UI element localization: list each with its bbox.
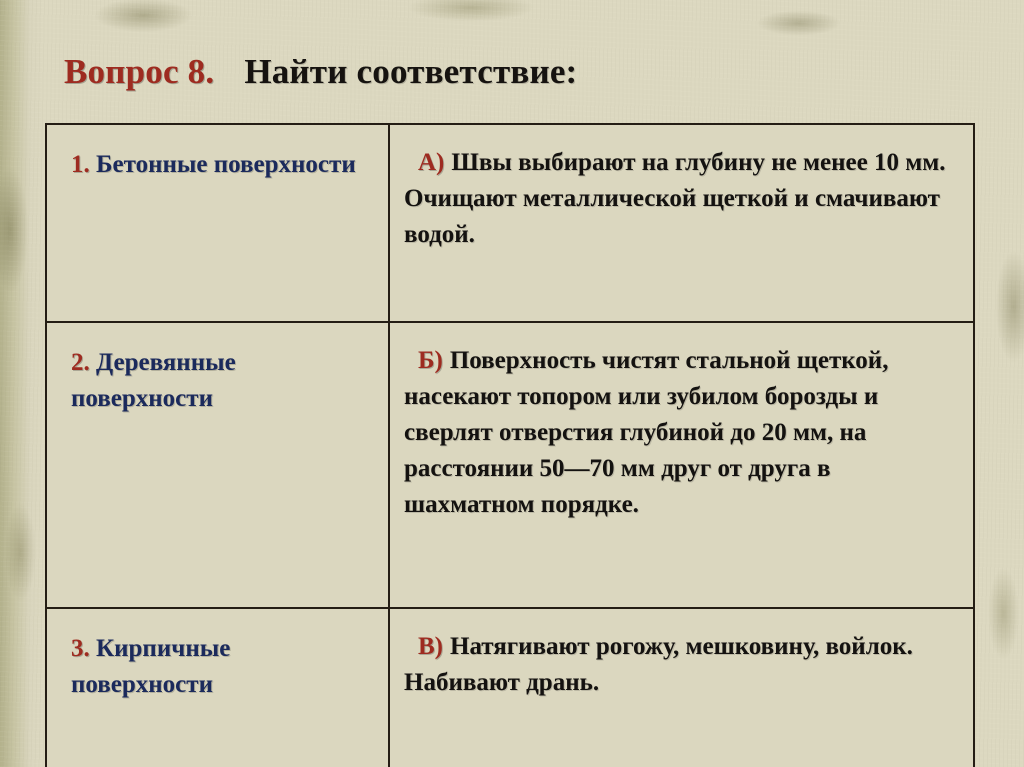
table-cell-answer-v: В)Натягивают рогожу, мешковину, войлок. …	[389, 608, 974, 767]
slide-canvas: Вопрос 8.Найти соответствие: 1. Бетонные…	[0, 0, 1024, 767]
item-2: 2. Деревянные поверхности	[61, 337, 374, 416]
table-row: 2. Деревянные поверхности Б)Поверхность …	[46, 322, 974, 608]
answer-b-letter: Б)	[418, 347, 443, 374]
item-1: 1. Бетонные поверхности	[61, 139, 374, 183]
table-cell-item-1: 1. Бетонные поверхности	[46, 124, 389, 322]
table-row: 1. Бетонные поверхности А)Швы выбирают н…	[46, 124, 974, 322]
table-row: 3. Кирпичные поверхности В)Натягивают ро…	[46, 608, 974, 767]
page-title: Вопрос 8.Найти соответствие:	[64, 52, 964, 92]
answer-v-letter: В)	[418, 633, 443, 660]
item-1-label: Бетонные поверхности	[96, 151, 356, 178]
question-instruction: Найти соответствие:	[244, 52, 577, 91]
question-number: Вопрос 8.	[64, 52, 214, 91]
answer-v: В)Натягивают рогожу, мешковину, войлок. …	[404, 623, 959, 701]
table-cell-item-2: 2. Деревянные поверхности	[46, 322, 389, 608]
item-3-number: 3.	[71, 635, 90, 662]
item-3-label: Кирпичные поверхности	[71, 635, 230, 698]
item-3: 3. Кирпичные поверхности	[61, 623, 374, 702]
table-cell-answer-b: Б)Поверхность чистят стальной щеткой, на…	[389, 322, 974, 608]
answer-b: Б)Поверхность чистят стальной щеткой, на…	[404, 337, 959, 523]
matching-table: 1. Бетонные поверхности А)Швы выбирают н…	[45, 123, 975, 767]
table-cell-answer-a: А)Швы выбирают на глубину не менее 10 мм…	[389, 124, 974, 322]
item-2-number: 2.	[71, 349, 90, 376]
answer-b-text: Поверхность чистят стальной щеткой, насе…	[404, 347, 888, 518]
answer-a-text: Швы выбирают на глубину не менее 10 мм. …	[404, 149, 946, 248]
item-2-label: Деревянные поверхности	[71, 349, 236, 412]
item-1-number: 1.	[71, 151, 90, 178]
answer-a: А)Швы выбирают на глубину не менее 10 мм…	[404, 139, 959, 253]
table-cell-item-3: 3. Кирпичные поверхности	[46, 608, 389, 767]
answer-a-letter: А)	[418, 149, 444, 176]
answer-v-text: Натягивают рогожу, мешковину, войлок. На…	[404, 633, 913, 696]
